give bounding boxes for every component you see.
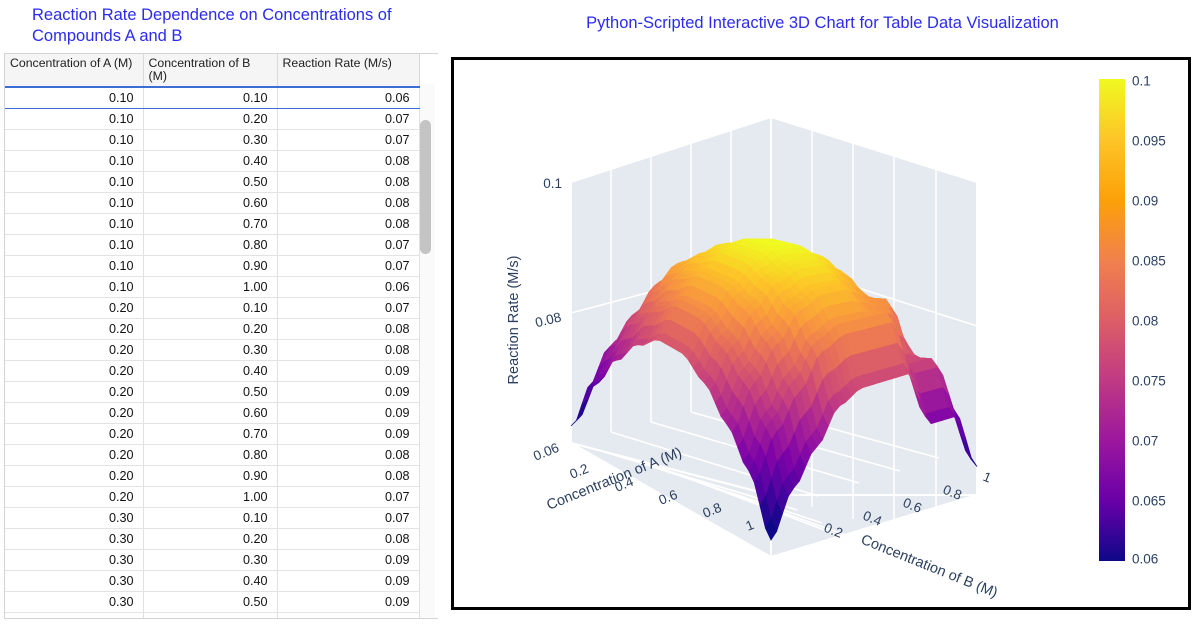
table-row[interactable]: 0.200.900.08 (5, 466, 419, 487)
z-tick-0: 0.1 (543, 176, 562, 191)
table-cell[interactable]: 0.07 (277, 508, 419, 529)
table-cell[interactable]: 0.07 (277, 298, 419, 319)
table-row[interactable]: 0.100.700.08 (5, 214, 419, 235)
table-row[interactable]: 0.100.800.07 (5, 235, 419, 256)
table-row[interactable]: 0.200.600.09 (5, 403, 419, 424)
table-cell[interactable]: 0.20 (5, 424, 143, 445)
table-cell[interactable]: 0.09 (277, 382, 419, 403)
table-cell[interactable]: 0.07 (277, 130, 419, 151)
page-root: Reaction Rate Dependence on Concentratio… (0, 0, 1198, 630)
table-cell[interactable]: 0.10 (143, 87, 277, 109)
table-cell[interactable]: 0.09 (277, 592, 419, 613)
table-cell[interactable]: 0.60 (143, 193, 277, 214)
table-cell[interactable]: 0.10 (5, 235, 143, 256)
colorbar-tick-4: 0.08 (1132, 314, 1158, 329)
chart-frame[interactable]: · · · · · · · · · · · · · · · (451, 57, 1191, 610)
colorbar-gradient (1099, 79, 1125, 561)
table-cell[interactable]: 0.09 (277, 361, 419, 382)
table-cell[interactable]: 0.20 (143, 529, 277, 550)
colorbar-tick-6: 0.07 (1132, 434, 1158, 449)
table-cell[interactable]: 0.20 (5, 319, 143, 340)
table-row[interactable]: 0.100.200.07 (5, 109, 419, 130)
table-cell[interactable]: 0.07 (277, 256, 419, 277)
table-row[interactable]: 0.100.900.07 (5, 256, 419, 277)
table-header-row: Concentration of A (M) Concentration of … (5, 54, 419, 87)
chart-plot-area[interactable]: · · · · · · · · · · · · · · · (454, 60, 1188, 607)
table-cell[interactable]: 0.20 (5, 445, 143, 466)
table-row[interactable]: 0.200.200.08 (5, 319, 419, 340)
colorbar-tick-5: 0.075 (1132, 374, 1166, 389)
table-cell[interactable]: 0.10 (143, 298, 277, 319)
table-cell[interactable]: 0.06 (277, 87, 419, 109)
table-cell[interactable]: 0.50 (143, 592, 277, 613)
table-cell[interactable]: 0.08 (277, 466, 419, 487)
table-row[interactable]: 0.300.100.07 (5, 508, 419, 529)
table-cell[interactable]: 0.20 (5, 403, 143, 424)
table-cell[interactable]: 0.70 (143, 424, 277, 445)
table-cell[interactable]: 1.00 (143, 277, 277, 298)
table-cell[interactable]: 0.20 (5, 298, 143, 319)
table-row[interactable]: 0.100.300.07 (5, 130, 419, 151)
table-cell[interactable]: 0.06 (277, 277, 419, 298)
table-cell[interactable]: 0.30 (5, 613, 143, 620)
table-row[interactable]: 0.200.400.09 (5, 361, 419, 382)
table-cell[interactable]: 0.30 (5, 508, 143, 529)
table-row[interactable]: 0.100.500.08 (5, 172, 419, 193)
colorbar-tick-2: 0.09 (1132, 194, 1158, 209)
z-tick-1: 0.08 (534, 309, 563, 330)
colorbar-tick-7: 0.065 (1132, 494, 1166, 509)
table-cell[interactable]: 0.10 (5, 193, 143, 214)
table-cell[interactable]: 0.10 (5, 172, 143, 193)
table-cell[interactable]: 0.20 (143, 109, 277, 130)
table-cell[interactable]: 0.10 (5, 151, 143, 172)
table-cell[interactable]: 0.30 (5, 550, 143, 571)
table-cell[interactable]: 0.30 (5, 592, 143, 613)
table-cell[interactable]: 0.07 (277, 235, 419, 256)
table-scroll-container[interactable]: Concentration of A (M) Concentration of … (4, 53, 438, 619)
table-cell[interactable]: 0.80 (143, 445, 277, 466)
table-cell[interactable]: 0.20 (143, 319, 277, 340)
table-row[interactable]: 0.100.600.08 (5, 193, 419, 214)
table-cell[interactable]: 0.08 (277, 214, 419, 235)
table-cell[interactable]: 0.09 (277, 613, 419, 620)
table-cell[interactable]: 0.08 (277, 319, 419, 340)
table-cell[interactable]: 0.10 (5, 109, 143, 130)
table-cell[interactable]: 0.09 (277, 550, 419, 571)
table-cell[interactable]: 0.40 (143, 571, 277, 592)
table-row[interactable]: 0.300.200.08 (5, 529, 419, 550)
table-cell[interactable]: 0.20 (5, 382, 143, 403)
table-cell[interactable]: 0.20 (5, 340, 143, 361)
table-row[interactable]: 0.100.400.08 (5, 151, 419, 172)
table-cell[interactable]: 0.10 (5, 277, 143, 298)
table-row[interactable]: 0.200.500.09 (5, 382, 419, 403)
table-cell[interactable]: 1.00 (143, 487, 277, 508)
table-row[interactable]: 0.200.800.08 (5, 445, 419, 466)
colorbar-tick-0: 0.1 (1132, 74, 1151, 89)
table-cell[interactable]: 0.10 (5, 87, 143, 109)
table-row[interactable]: 0.300.400.09 (5, 571, 419, 592)
z-axis-title: Reaction Rate (M/s) (506, 256, 522, 385)
table-cell[interactable]: 0.08 (277, 340, 419, 361)
table-cell[interactable]: 0.07 (277, 109, 419, 130)
table-cell[interactable]: 0.60 (143, 403, 277, 424)
colorbar-tick-8: 0.06 (1132, 552, 1158, 567)
table-cell[interactable]: 0.50 (143, 172, 277, 193)
y-axis-title: Concentration of B (M) (859, 532, 1000, 601)
table-row[interactable]: 0.200.700.09 (5, 424, 419, 445)
y-tick-4: 1 (981, 469, 994, 486)
x-tick-0: 0.2 (568, 461, 591, 482)
table-cell[interactable]: 0.30 (143, 340, 277, 361)
table-cell[interactable]: 0.10 (5, 130, 143, 151)
table-cell[interactable]: 0.30 (143, 550, 277, 571)
table-cell[interactable]: 0.10 (5, 214, 143, 235)
table-panel: Reaction Rate Dependence on Concentratio… (0, 0, 447, 630)
colorbar-tick-1: 0.095 (1132, 134, 1166, 149)
table-row[interactable]: 0.101.000.06 (5, 277, 419, 298)
z-tick-2: 0.06 (531, 440, 561, 464)
table-cell[interactable]: 0.09 (277, 424, 419, 445)
table-scrollbar-track[interactable] (420, 84, 435, 618)
table-cell[interactable]: 0.80 (143, 235, 277, 256)
table-cell[interactable]: 0.09 (277, 571, 419, 592)
colorbar[interactable]: 0.1 0.095 0.09 0.085 0.08 0.075 0.07 0.0… (1099, 79, 1125, 561)
table-row[interactable]: 0.300.500.09 (5, 592, 419, 613)
table-cell[interactable]: 0.08 (277, 172, 419, 193)
table-cell[interactable]: 0.09 (277, 403, 419, 424)
table-scrollbar-thumb[interactable] (420, 120, 431, 254)
table-row[interactable]: 0.100.100.06 (5, 87, 419, 109)
table-row[interactable]: 0.300.600.09 (5, 613, 419, 620)
column-header-concentration-b[interactable]: Concentration of B (M) (143, 54, 277, 87)
table-cell[interactable]: 0.60 (143, 613, 277, 620)
table-cell[interactable]: 0.20 (5, 466, 143, 487)
table-cell[interactable]: 0.20 (5, 361, 143, 382)
data-table: Concentration of A (M) Concentration of … (5, 54, 420, 619)
table-row[interactable]: 0.200.100.07 (5, 298, 419, 319)
column-header-concentration-a[interactable]: Concentration of A (M) (5, 54, 143, 87)
table-row[interactable]: 0.201.000.07 (5, 487, 419, 508)
table-cell[interactable]: 0.30 (5, 529, 143, 550)
table-cell[interactable]: 0.20 (5, 487, 143, 508)
table-row[interactable]: 0.300.300.09 (5, 550, 419, 571)
table-title: Reaction Rate Dependence on Concentratio… (0, 0, 447, 53)
table-cell[interactable]: 0.70 (143, 214, 277, 235)
table-cell[interactable]: 0.40 (143, 361, 277, 382)
table-row[interactable]: 0.200.300.08 (5, 340, 419, 361)
colorbar-tick-3: 0.085 (1132, 254, 1166, 269)
table-cell[interactable]: 0.10 (143, 508, 277, 529)
chart-title: Python-Scripted Interactive 3D Chart for… (447, 14, 1198, 33)
table-cell[interactable]: 0.30 (5, 571, 143, 592)
table-cell[interactable]: 0.50 (143, 382, 277, 403)
table-cell[interactable]: 0.07 (277, 487, 419, 508)
table-body: 0.100.100.060.100.200.070.100.300.070.10… (5, 87, 419, 619)
table-cell[interactable]: 0.08 (277, 151, 419, 172)
table-cell[interactable]: 0.10 (5, 256, 143, 277)
table-cell[interactable]: 0.08 (277, 445, 419, 466)
table-cell[interactable]: 0.90 (143, 466, 277, 487)
z-axis: 0.1 0.08 0.06 Reaction Rate (M/s) (506, 176, 563, 464)
table-cell[interactable]: 0.30 (143, 130, 277, 151)
table-cell[interactable]: 0.90 (143, 256, 277, 277)
surface-plot-svg[interactable]: 0.1 0.08 0.06 Reaction Rate (M/s) 0.2 0.… (454, 60, 1188, 607)
table-cell[interactable]: 0.08 (277, 193, 419, 214)
column-header-reaction-rate[interactable]: Reaction Rate (M/s) (277, 54, 419, 87)
table-cell[interactable]: 0.40 (143, 151, 277, 172)
table-cell[interactable]: 0.08 (277, 529, 419, 550)
